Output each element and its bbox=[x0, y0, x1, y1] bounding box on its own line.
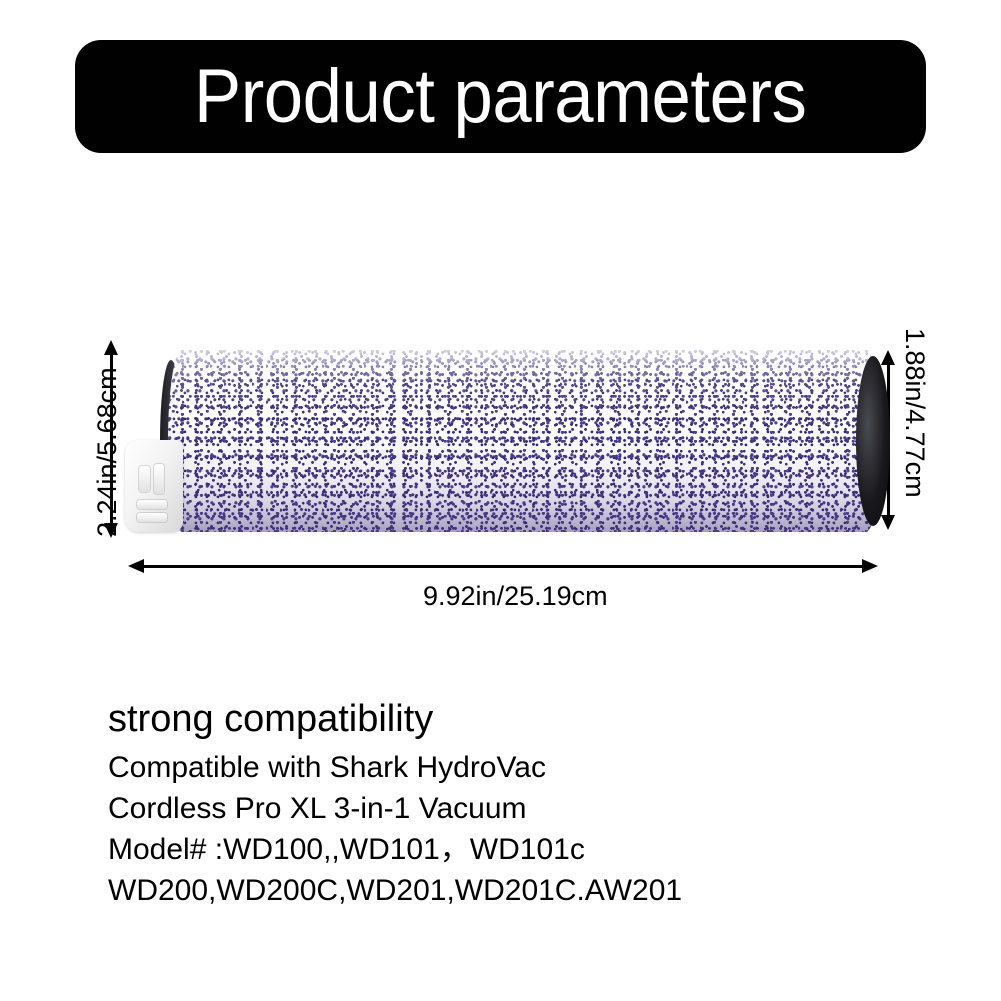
end-cap-rib bbox=[137, 500, 167, 509]
roller-right-end-cap bbox=[856, 356, 890, 526]
width-dimension-line bbox=[142, 565, 864, 568]
compatibility-line: WD200,WD200C,WD201,WD201C.AW201 bbox=[108, 870, 928, 911]
compatibility-section: strong compatibility Compatible with Sha… bbox=[108, 698, 928, 911]
width-dimension-arrow-right bbox=[862, 559, 878, 573]
compatibility-line: Compatible with Shark HydroVac bbox=[108, 747, 928, 788]
end-cap-rib bbox=[154, 464, 164, 494]
end-cap-rib bbox=[139, 466, 150, 492]
right-dimension-label: 1.88in/4.77cm bbox=[901, 328, 928, 498]
microfiber-roller-brush bbox=[168, 350, 880, 532]
compatibility-line: Model# :WD100,,WD101，WD101c bbox=[108, 829, 928, 870]
end-cap-rib bbox=[137, 513, 167, 522]
right-dimension-arrow-down bbox=[881, 515, 895, 530]
header-banner: Product parameters bbox=[75, 40, 926, 153]
product-parameters-infographic: Product parameters 2.24in/5.68cm 1.88in/… bbox=[0, 0, 1001, 1001]
width-dimension-label: 9.92in/25.19cm bbox=[423, 583, 608, 610]
left-dimension-label: 2.24in/5.68cm bbox=[94, 367, 121, 537]
page-title: Product parameters bbox=[194, 59, 806, 135]
roller-fabric-surface bbox=[168, 350, 880, 532]
product-image-area: 2.24in/5.68cm 1.88in/4.77cm 9.92in/25.19… bbox=[0, 300, 1001, 620]
compatibility-heading: strong compatibility bbox=[108, 698, 928, 741]
roller-left-end-cap bbox=[125, 440, 185, 532]
compatibility-line: Cordless Pro XL 3-in-1 Vacuum bbox=[108, 788, 928, 829]
